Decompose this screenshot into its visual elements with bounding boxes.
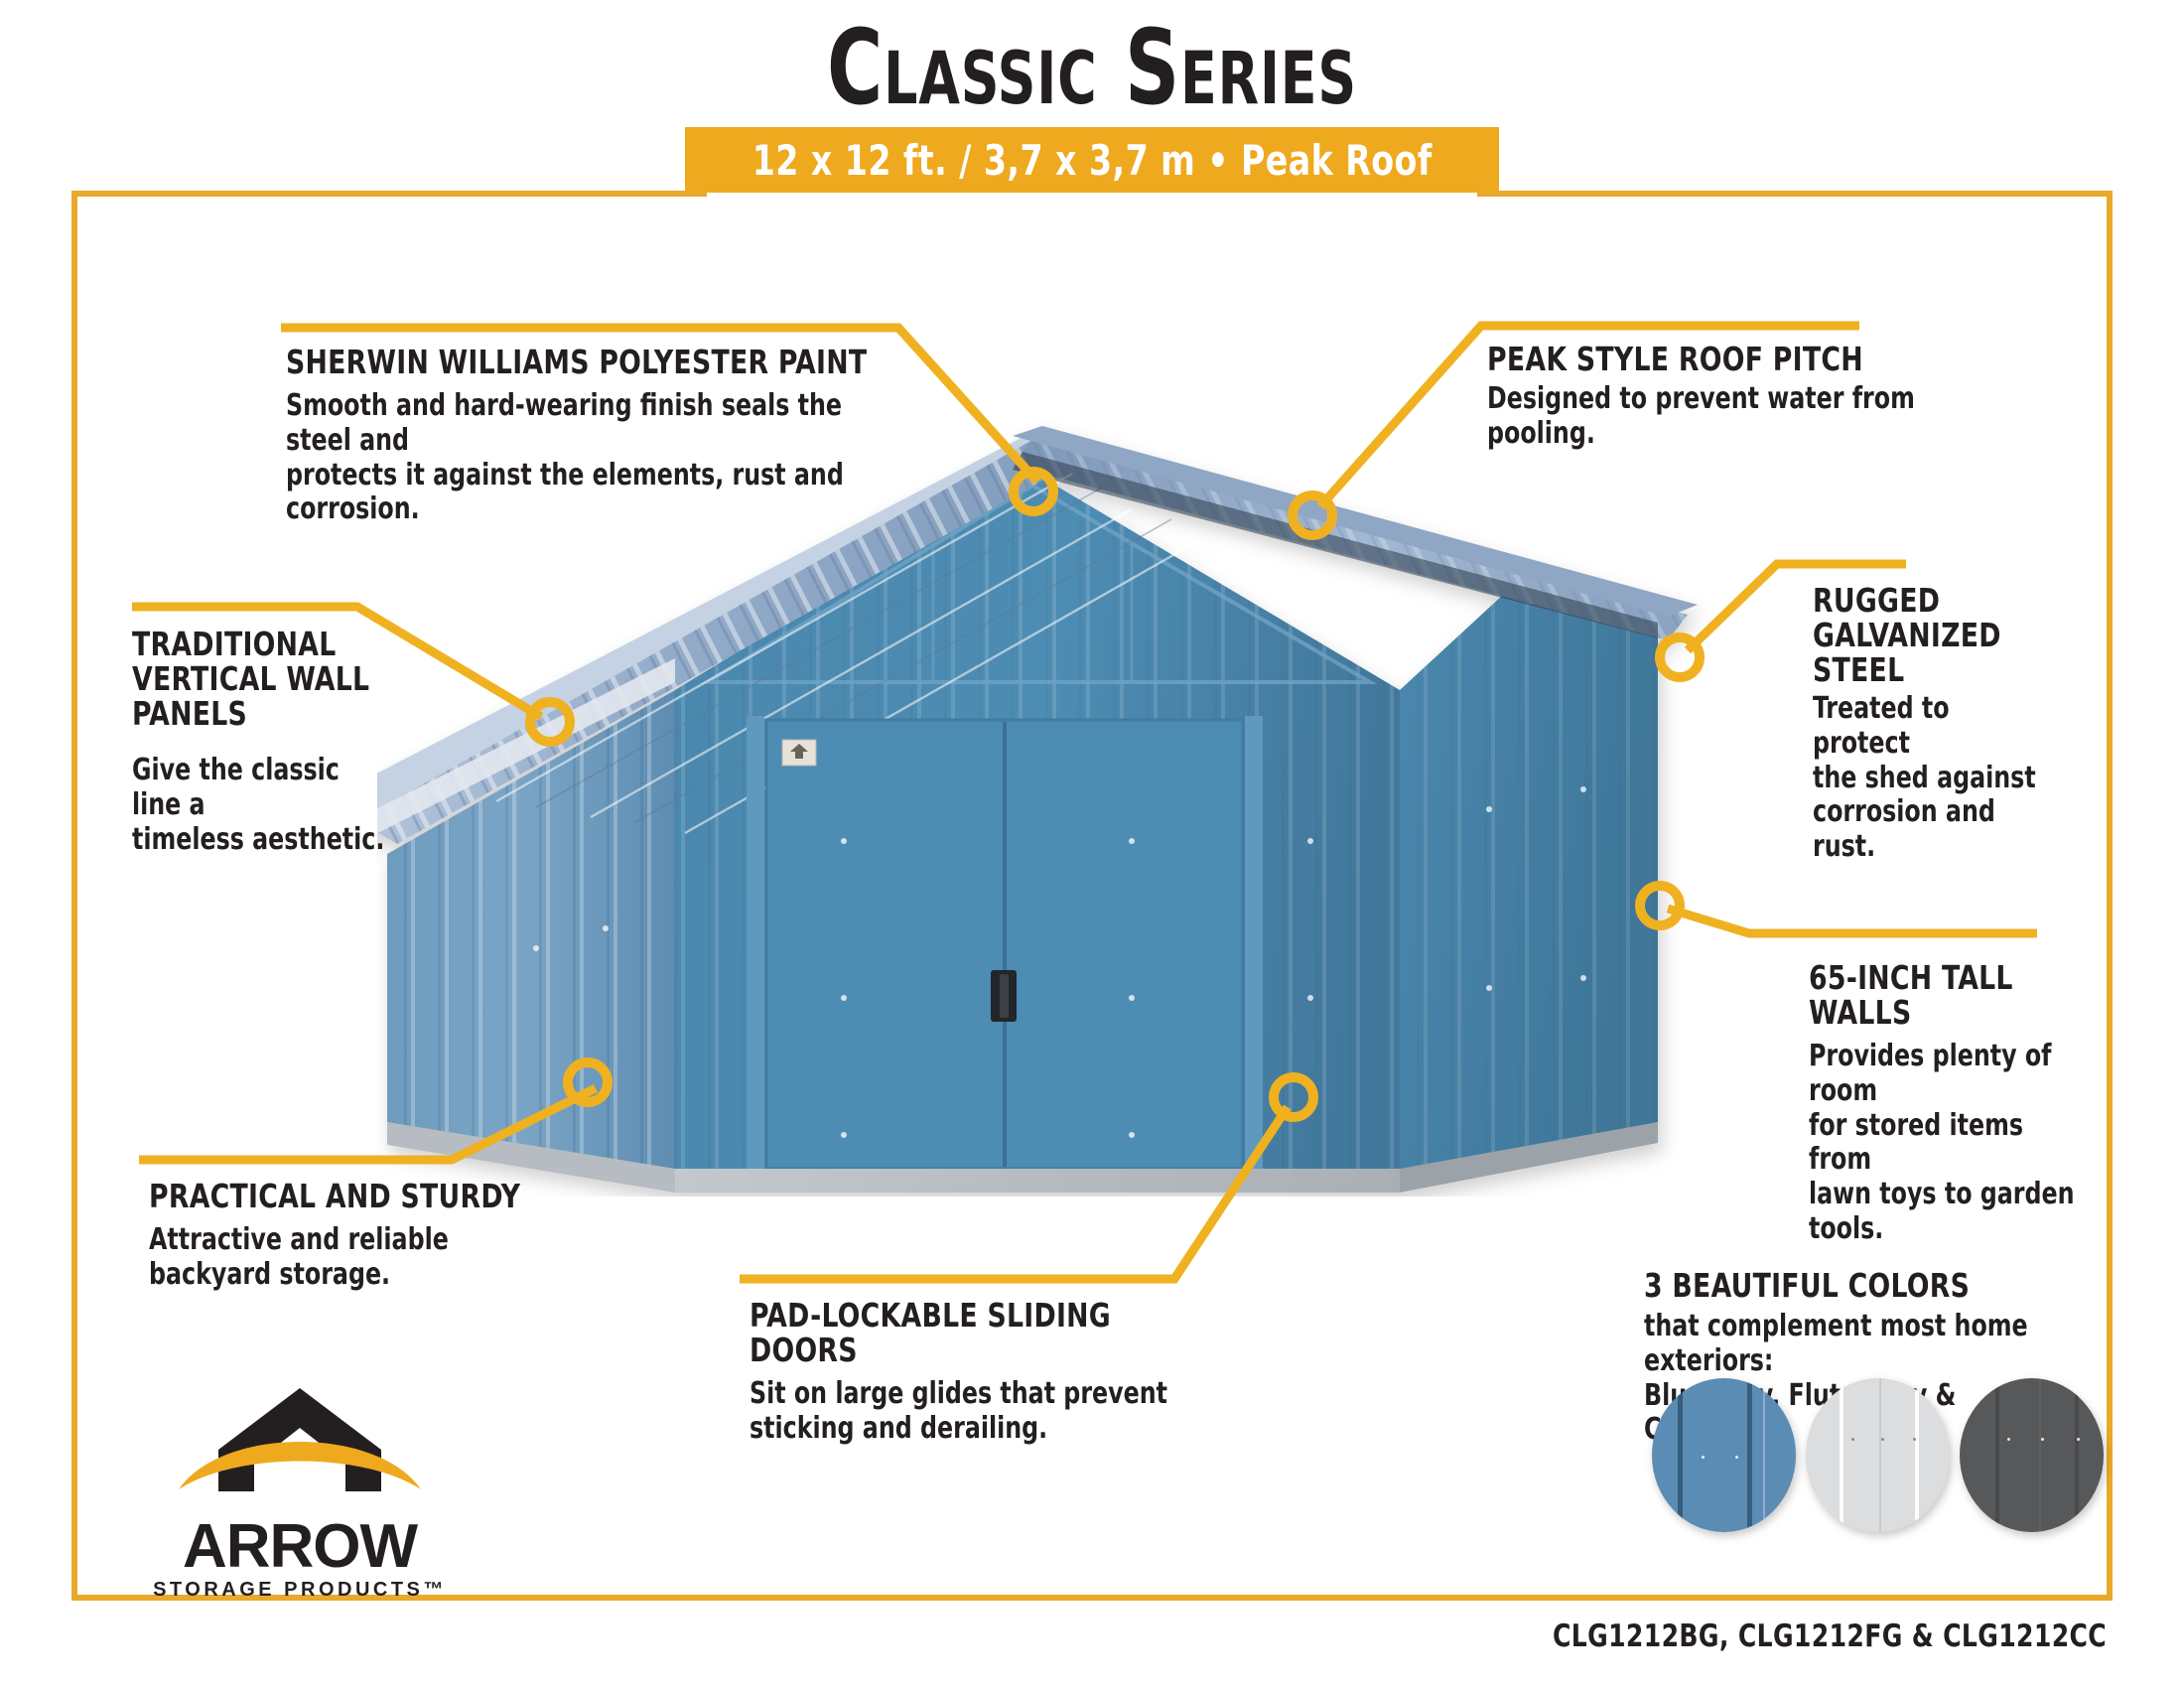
callout-body: Give the classic line a timeless aesthet… — [132, 754, 394, 857]
arrow-house-icon — [151, 1382, 449, 1511]
infographic-sheet: Classic Series 12 x 12 ft. / 3,7 x 3,7 m… — [0, 0, 2184, 1688]
callout-65-inch-tall-walls: 65-INCH TALL WALLS Provides plenty of ro… — [1809, 961, 2116, 1247]
color-swatch-flute-grey — [1806, 1378, 1950, 1532]
page-title: Classic Series — [197, 16, 1987, 119]
callout-rugged-galvanized-steel: RUGGED GALVANIZED STEEL Treated to prote… — [1813, 584, 2071, 865]
colors-heading: 3 BEAUTIFUL COLORS — [1644, 1266, 2064, 1305]
callout-sherwin-williams-polyester-paint: SHERWIN WILLIAMS POLYESTER PAINT Smooth … — [286, 346, 941, 527]
frame-top-right-segment — [1477, 191, 2113, 197]
callout-body: Sit on large glides that prevent stickin… — [750, 1377, 1204, 1447]
callout-heading: 65-INCH TALL WALLS — [1809, 961, 2086, 1031]
callout-body: Smooth and hard-wearing finish seals the… — [286, 389, 863, 527]
callout-heading: SHERWIN WILLIAMS POLYESTER PAINT — [286, 346, 876, 380]
color-swatch-row — [1652, 1378, 2104, 1532]
callout-heading: RUGGED GALVANIZED STEEL — [1813, 584, 2045, 688]
logo-tagline-text: STORAGE PRODUCTS™ — [151, 1579, 449, 1602]
color-swatch-charcoal — [1960, 1378, 2104, 1532]
callout-pad-lockable-sliding-doors: PAD-LOCKABLE SLIDING DOORS Sit on large … — [750, 1299, 1266, 1447]
frame-top-left-segment — [71, 191, 707, 197]
callout-heading: PAD-LOCKABLE SLIDING DOORS — [750, 1299, 1214, 1368]
subtitle-text: 12 x 12 ft. / 3,7 x 3,7 m • Peak Roof — [751, 136, 1432, 185]
color-swatch-blue-grey — [1652, 1378, 1796, 1532]
callout-heading: TRADITIONAL VERTICAL WALL PANELS — [132, 628, 400, 732]
callout-body: Attractive and reliable backyard storage… — [149, 1223, 516, 1293]
callout-heading: PRACTICAL AND STURDY — [149, 1180, 524, 1214]
callout-body: Provides plenty of room for stored items… — [1809, 1040, 2080, 1247]
subtitle-bar: 12 x 12 ft. / 3,7 x 3,7 m • Peak Roof — [685, 127, 1499, 193]
callout-body-text: Designed to prevent water from pooling. — [1487, 382, 1977, 452]
logo-brand-text: ARROW — [151, 1511, 449, 1582]
callout-heading: PEAK STYLE ROOF PITCH — [1487, 343, 1987, 377]
callout-peak-style-roof-pitch: PEAK STYLE ROOF PITCH Designed to preven… — [1487, 343, 2043, 452]
callout-practical-and-sturdy: PRACTICAL AND STURDY Attractive and reli… — [149, 1180, 566, 1293]
callout-body: Treated to protect the shed against corr… — [1813, 692, 2040, 865]
arrow-logo: ARROW STORAGE PRODUCTS™ — [151, 1382, 449, 1611]
model-codes: CLG1212BG, CLG1212FG & CLG1212CC — [1553, 1618, 2107, 1654]
callout-traditional-vertical-wall-panels: TRADITIONAL VERTICAL WALL PANELS Give th… — [132, 628, 430, 857]
